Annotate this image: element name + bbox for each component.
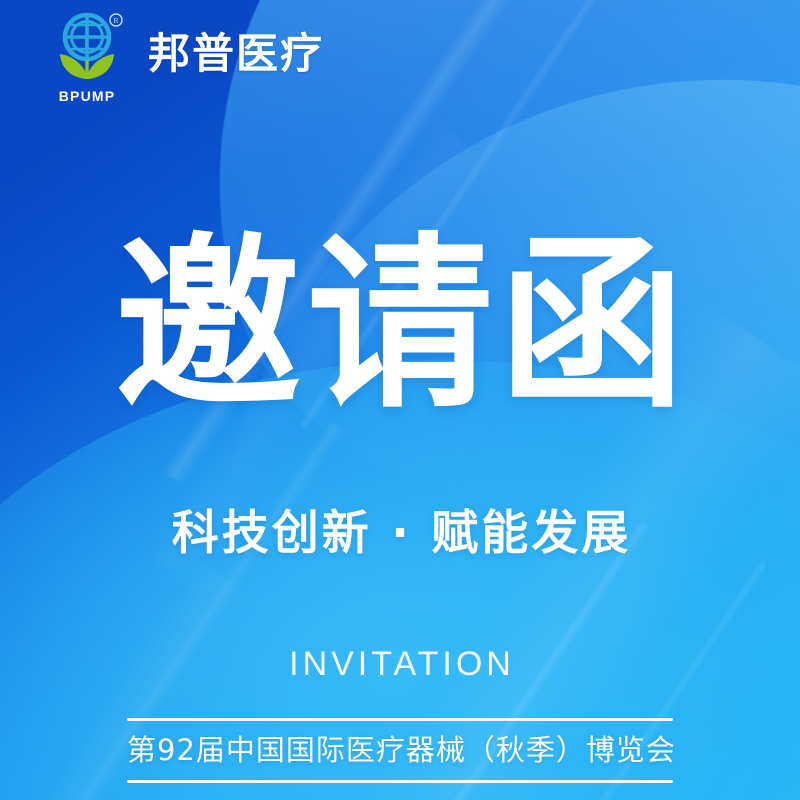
event-name: 第92届中国国际医疗器械（秋季）博览会 — [127, 721, 673, 780]
brand-lockup: R BPUMP 邦普医疗 — [44, 10, 324, 94]
bpump-leaf-globe-logo-icon: R BPUMP — [44, 10, 130, 94]
invitation-english-label: INVITATION — [0, 645, 800, 684]
poster-content: 邀请函 科技创新 · 赋能发展 INVITATION — [0, 0, 800, 800]
company-name: 邦普医疗 — [148, 33, 324, 75]
poster-subtitle: 科技创新 · 赋能发展 — [0, 508, 800, 560]
page-title: 邀请函 — [0, 232, 800, 418]
footer-block: 第92届中国国际医疗器械（秋季）博览会 — [127, 718, 673, 783]
svg-text:R: R — [113, 16, 118, 25]
bpump-wordmark: BPUMP — [44, 88, 130, 104]
divider-line-bottom — [127, 780, 673, 783]
invitation-poster: R BPUMP 邦普医疗 邀请函 科技创新 · 赋能发展 INVITATION … — [0, 0, 800, 800]
